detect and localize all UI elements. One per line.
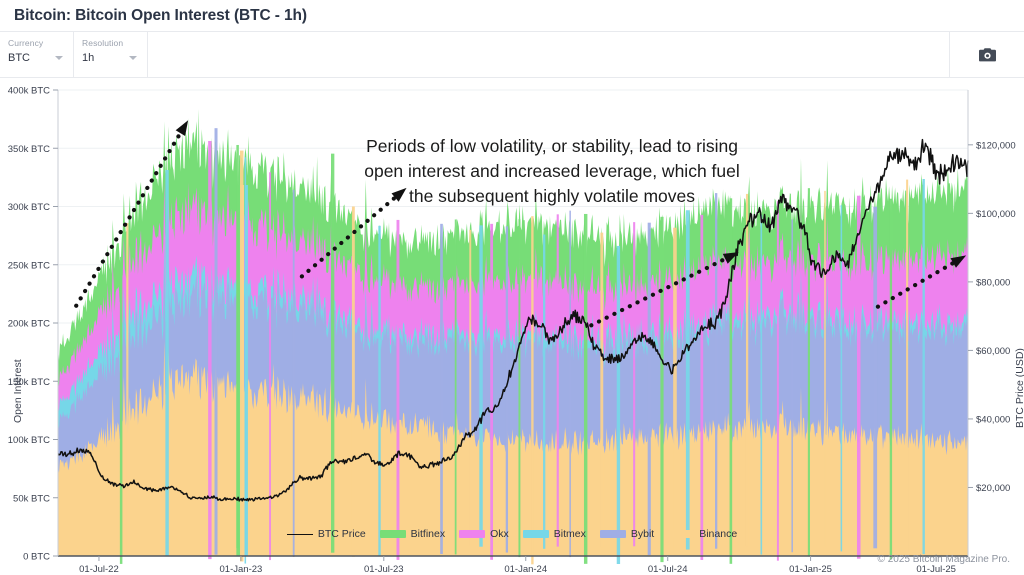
legend-line-swatch [287,534,313,535]
x-tick-label: 01-Jan-24 [504,564,547,575]
legend-label: Binance [699,528,737,540]
legend-label: Okx [490,528,509,540]
y-tick-label: 0 BTC [23,552,50,563]
snapshot-button[interactable] [950,32,1024,77]
chart-annotation-text: Periods of low volatility, or stability,… [262,134,842,209]
toolbar-spacer [148,32,950,77]
legend-label: BTC Price [318,528,366,540]
y-axis-ticks: 0 BTC50k BTC100k BTC150k BTC200k BTC250k… [8,86,58,563]
y2-axis-label: BTC Price (USD) [1014,348,1024,428]
currency-dropdown[interactable]: Currency BTC [0,32,74,77]
y2-tick-label: $120,000 [976,140,1016,151]
legend-item-binance[interactable]: Binance [668,528,737,540]
chart-legend: BTC PriceBitfinexOkxBitmexBybitBinance [0,528,1024,540]
resolution-dropdown[interactable]: Resolution 1h [74,32,148,77]
currency-value: BTC [8,52,30,64]
y-tick-label: 400k BTC [8,86,50,97]
legend-color-swatch [600,530,626,538]
y2-tick-label: $60,000 [976,346,1010,357]
footer-copyright: © 2025 Bitcoin Magazine Pro. [878,554,1010,565]
chevron-down-icon [129,56,137,60]
page-title: Bitcoin: Bitcoin Open Interest (BTC - 1h… [14,7,307,25]
x-tick-label: 01-Jul-22 [79,564,119,575]
legend-color-swatch [459,530,485,538]
y2-tick-label: $100,000 [976,209,1016,220]
currency-label: Currency [8,37,65,49]
annotation-line-2: open interest and increased leverage, wh… [262,159,842,184]
x-tick-label: 01-Jul-23 [364,564,404,575]
chart-app: Bitcoin: Bitcoin Open Interest (BTC - 1h… [0,0,1024,575]
y-tick-label: 200k BTC [8,319,50,330]
title-bar: Bitcoin: Bitcoin Open Interest (BTC - 1h… [0,0,1024,32]
x-tick-label: 01-Jan-23 [220,564,263,575]
resolution-label: Resolution [82,37,139,49]
y2-tick-label: $40,000 [976,414,1010,425]
x-tick-label: 01-Jul-25 [916,564,956,575]
annotation-line-3: the subsequent highly volatile moves [262,184,842,209]
x-tick-label: 01-Jul-24 [648,564,688,575]
resolution-value: 1h [82,52,94,64]
arrow-head [176,120,188,136]
legend-item-bitfinex[interactable]: Bitfinex [380,528,445,540]
legend-color-swatch [523,530,549,538]
legend-color-swatch [668,530,694,538]
y-tick-label: 250k BTC [8,260,50,271]
y-axis-label: Open Interest [12,359,24,423]
chart-area: BITCOIN MAGAZINE PRO 0 BTC50k BTC100k BT… [0,78,1024,575]
x-tick-label: 01-Jan-25 [789,564,832,575]
legend-label: Bitmex [554,528,586,540]
legend-color-swatch [380,530,406,538]
y-tick-label: 100k BTC [8,435,50,446]
camera-icon [978,47,997,63]
legend-label: Bitfinex [411,528,445,540]
y2-axis-ticks: $20,000$40,000$60,000$80,000$100,000$120… [968,140,1016,494]
y-tick-label: 50k BTC [13,493,50,504]
y2-tick-label: $20,000 [976,483,1010,494]
annotation-line-1: Periods of low volatility, or stability,… [262,134,842,159]
legend-item-btc-price[interactable]: BTC Price [287,528,366,540]
legend-item-bybit[interactable]: Bybit [600,528,654,540]
toolbar: Currency BTC Resolution 1h [0,32,1024,78]
y2-tick-label: $80,000 [976,277,1010,288]
y-tick-label: 350k BTC [8,144,50,155]
legend-item-okx[interactable]: Okx [459,528,509,540]
legend-label: Bybit [631,528,654,540]
y-tick-label: 300k BTC [8,202,50,213]
legend-item-bitmex[interactable]: Bitmex [523,528,586,540]
chevron-down-icon [55,56,63,60]
